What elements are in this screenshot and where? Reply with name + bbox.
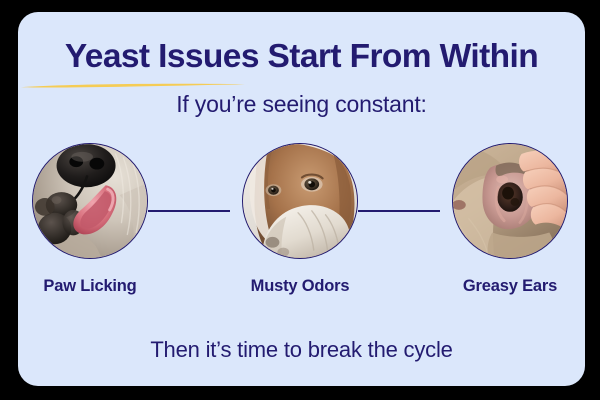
connector-line-2: [358, 210, 440, 212]
symptom-item-paw-licking: Paw Licking: [30, 143, 150, 296]
infographic-card: Yeast Issues Start From Within If you’re…: [18, 12, 585, 386]
photo-image-3: [453, 144, 567, 258]
title-underline-icon: [20, 82, 246, 89]
subtitle: If you’re seeing constant:: [18, 91, 585, 118]
dog-face-paw-photo: [242, 143, 358, 259]
symptom-caption-2: Musty Odors: [240, 277, 360, 296]
connector-line-1: [148, 210, 230, 212]
dog-inflamed-ear-photo: [452, 143, 568, 259]
page-title: Yeast Issues Start From Within: [65, 38, 538, 76]
symptom-item-musty-odors: Musty Odors: [240, 143, 360, 296]
dog-licking-paw-photo: [32, 143, 148, 259]
photo-image-1: [33, 144, 147, 258]
symptom-caption-3: Greasy Ears: [450, 277, 570, 296]
footer-text: Then it’s time to break the cycle: [18, 337, 585, 363]
photo-image-2: [243, 144, 357, 258]
symptom-item-greasy-ears: Greasy Ears: [450, 143, 570, 296]
symptom-caption-1: Paw Licking: [30, 277, 150, 296]
title-block: Yeast Issues Start From Within: [18, 38, 585, 76]
